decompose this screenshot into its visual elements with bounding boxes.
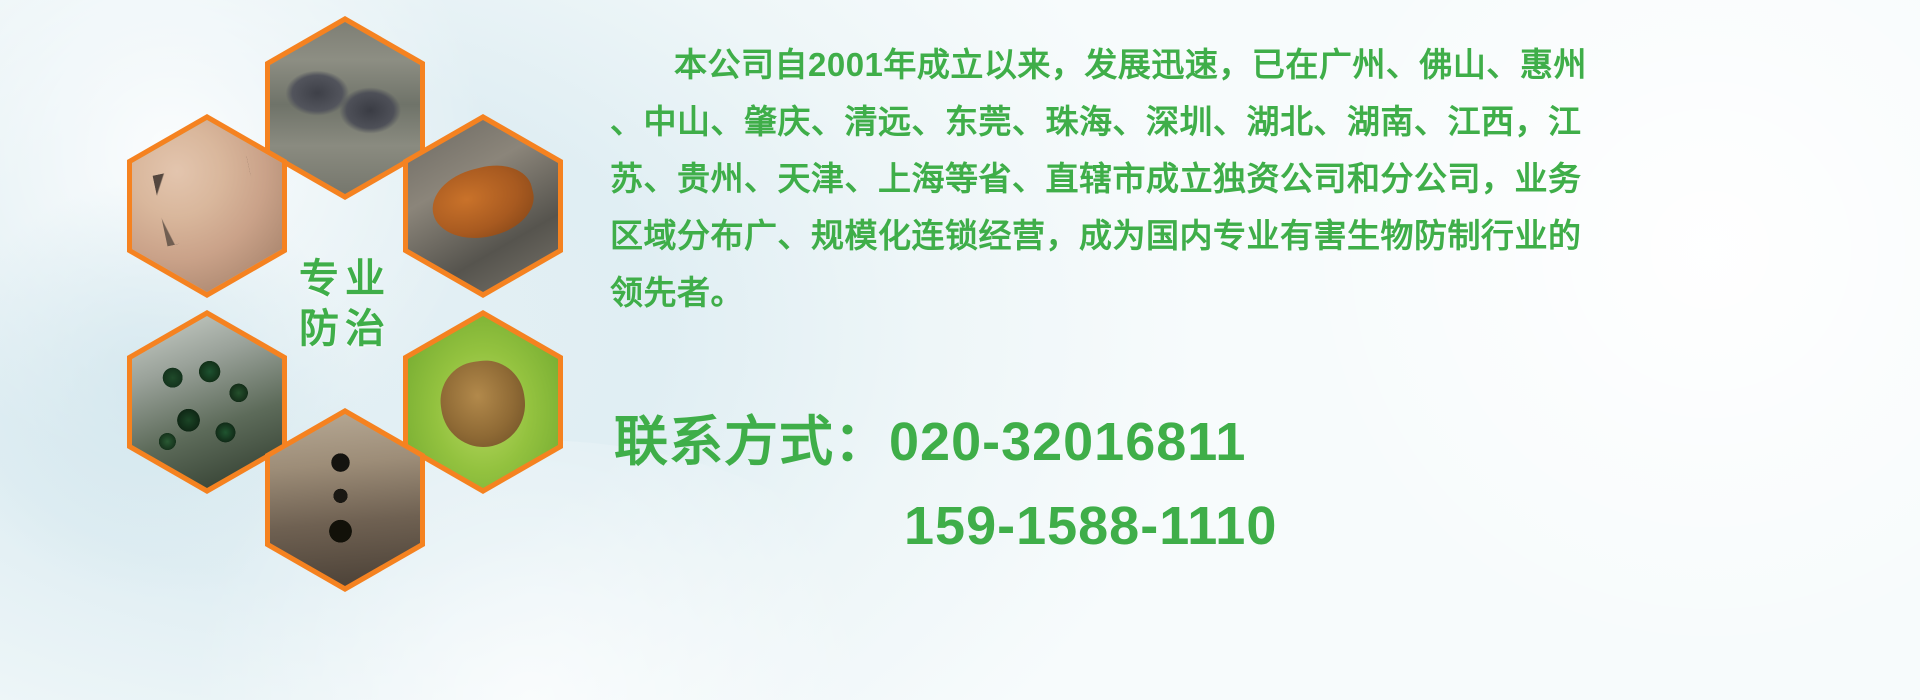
logo-text: 专业 防治	[270, 218, 420, 390]
rats-photo-artwork	[270, 22, 420, 194]
logo-text-wrapper: 专业 防治	[270, 218, 420, 390]
hex-cell-flies[interactable]	[127, 310, 287, 494]
contact-block: 联系方式：020-32016811 159-1588-1110	[614, 400, 1914, 568]
stinkbug-photo	[408, 316, 558, 488]
hex-cell-ant[interactable]	[265, 408, 425, 592]
logo-text-line2: 防治	[299, 304, 391, 354]
flies-photo-artwork	[132, 316, 282, 488]
mosquito-photo	[132, 120, 282, 292]
hex-cell-stinkbug[interactable]	[403, 310, 563, 494]
cockroach-photo	[408, 120, 558, 292]
intro-line-3: 苏、贵州、天津、上海等省、直辖市成立独资公司和分公司，业务	[610, 150, 1910, 207]
contact-secondary-phone[interactable]: 159-1588-1110	[614, 484, 1914, 568]
flies-photo	[132, 316, 282, 488]
banner-content: 本公司自2001年成立以来，发展迅速，已在广州、佛山、惠州 、中山、肇庆、清远、…	[600, 0, 1920, 700]
ant-photo	[270, 414, 420, 586]
intro-line-4: 区域分布广、规模化连锁经营，成为国内专业有害生物防制行业的	[610, 207, 1910, 264]
company-intro-banner: 专业 防治 本公司自2001年成立以来，发展迅速，已在广州、佛山、惠州 、中	[0, 0, 1920, 700]
mosquito-photo-artwork	[132, 120, 282, 292]
intro-line-5: 领先者。	[610, 264, 1910, 321]
hexagon-photo-cluster: 专业 防治	[85, 10, 605, 570]
hex-cell-logo-text: 专业 防治	[265, 212, 425, 396]
cockroach-photo-artwork	[408, 120, 558, 292]
company-intro-paragraph: 本公司自2001年成立以来，发展迅速，已在广州、佛山、惠州 、中山、肇庆、清远、…	[610, 36, 1910, 321]
intro-line-1: 本公司自2001年成立以来，发展迅速，已在广州、佛山、惠州	[610, 36, 1910, 93]
logo-text-line1: 专业	[299, 254, 391, 304]
intro-line-2: 、中山、肇庆、清远、东莞、珠海、深圳、湖北、湖南、江西，江	[610, 93, 1910, 150]
hex-cell-cockroach[interactable]	[403, 114, 563, 298]
contact-primary-phone[interactable]: 联系方式：020-32016811	[614, 400, 1914, 484]
ant-photo-artwork	[270, 414, 420, 586]
stinkbug-photo-artwork	[408, 316, 558, 488]
hex-cell-rats[interactable]	[265, 16, 425, 200]
rats-photo	[270, 22, 420, 194]
hex-cell-mosquito[interactable]	[127, 114, 287, 298]
